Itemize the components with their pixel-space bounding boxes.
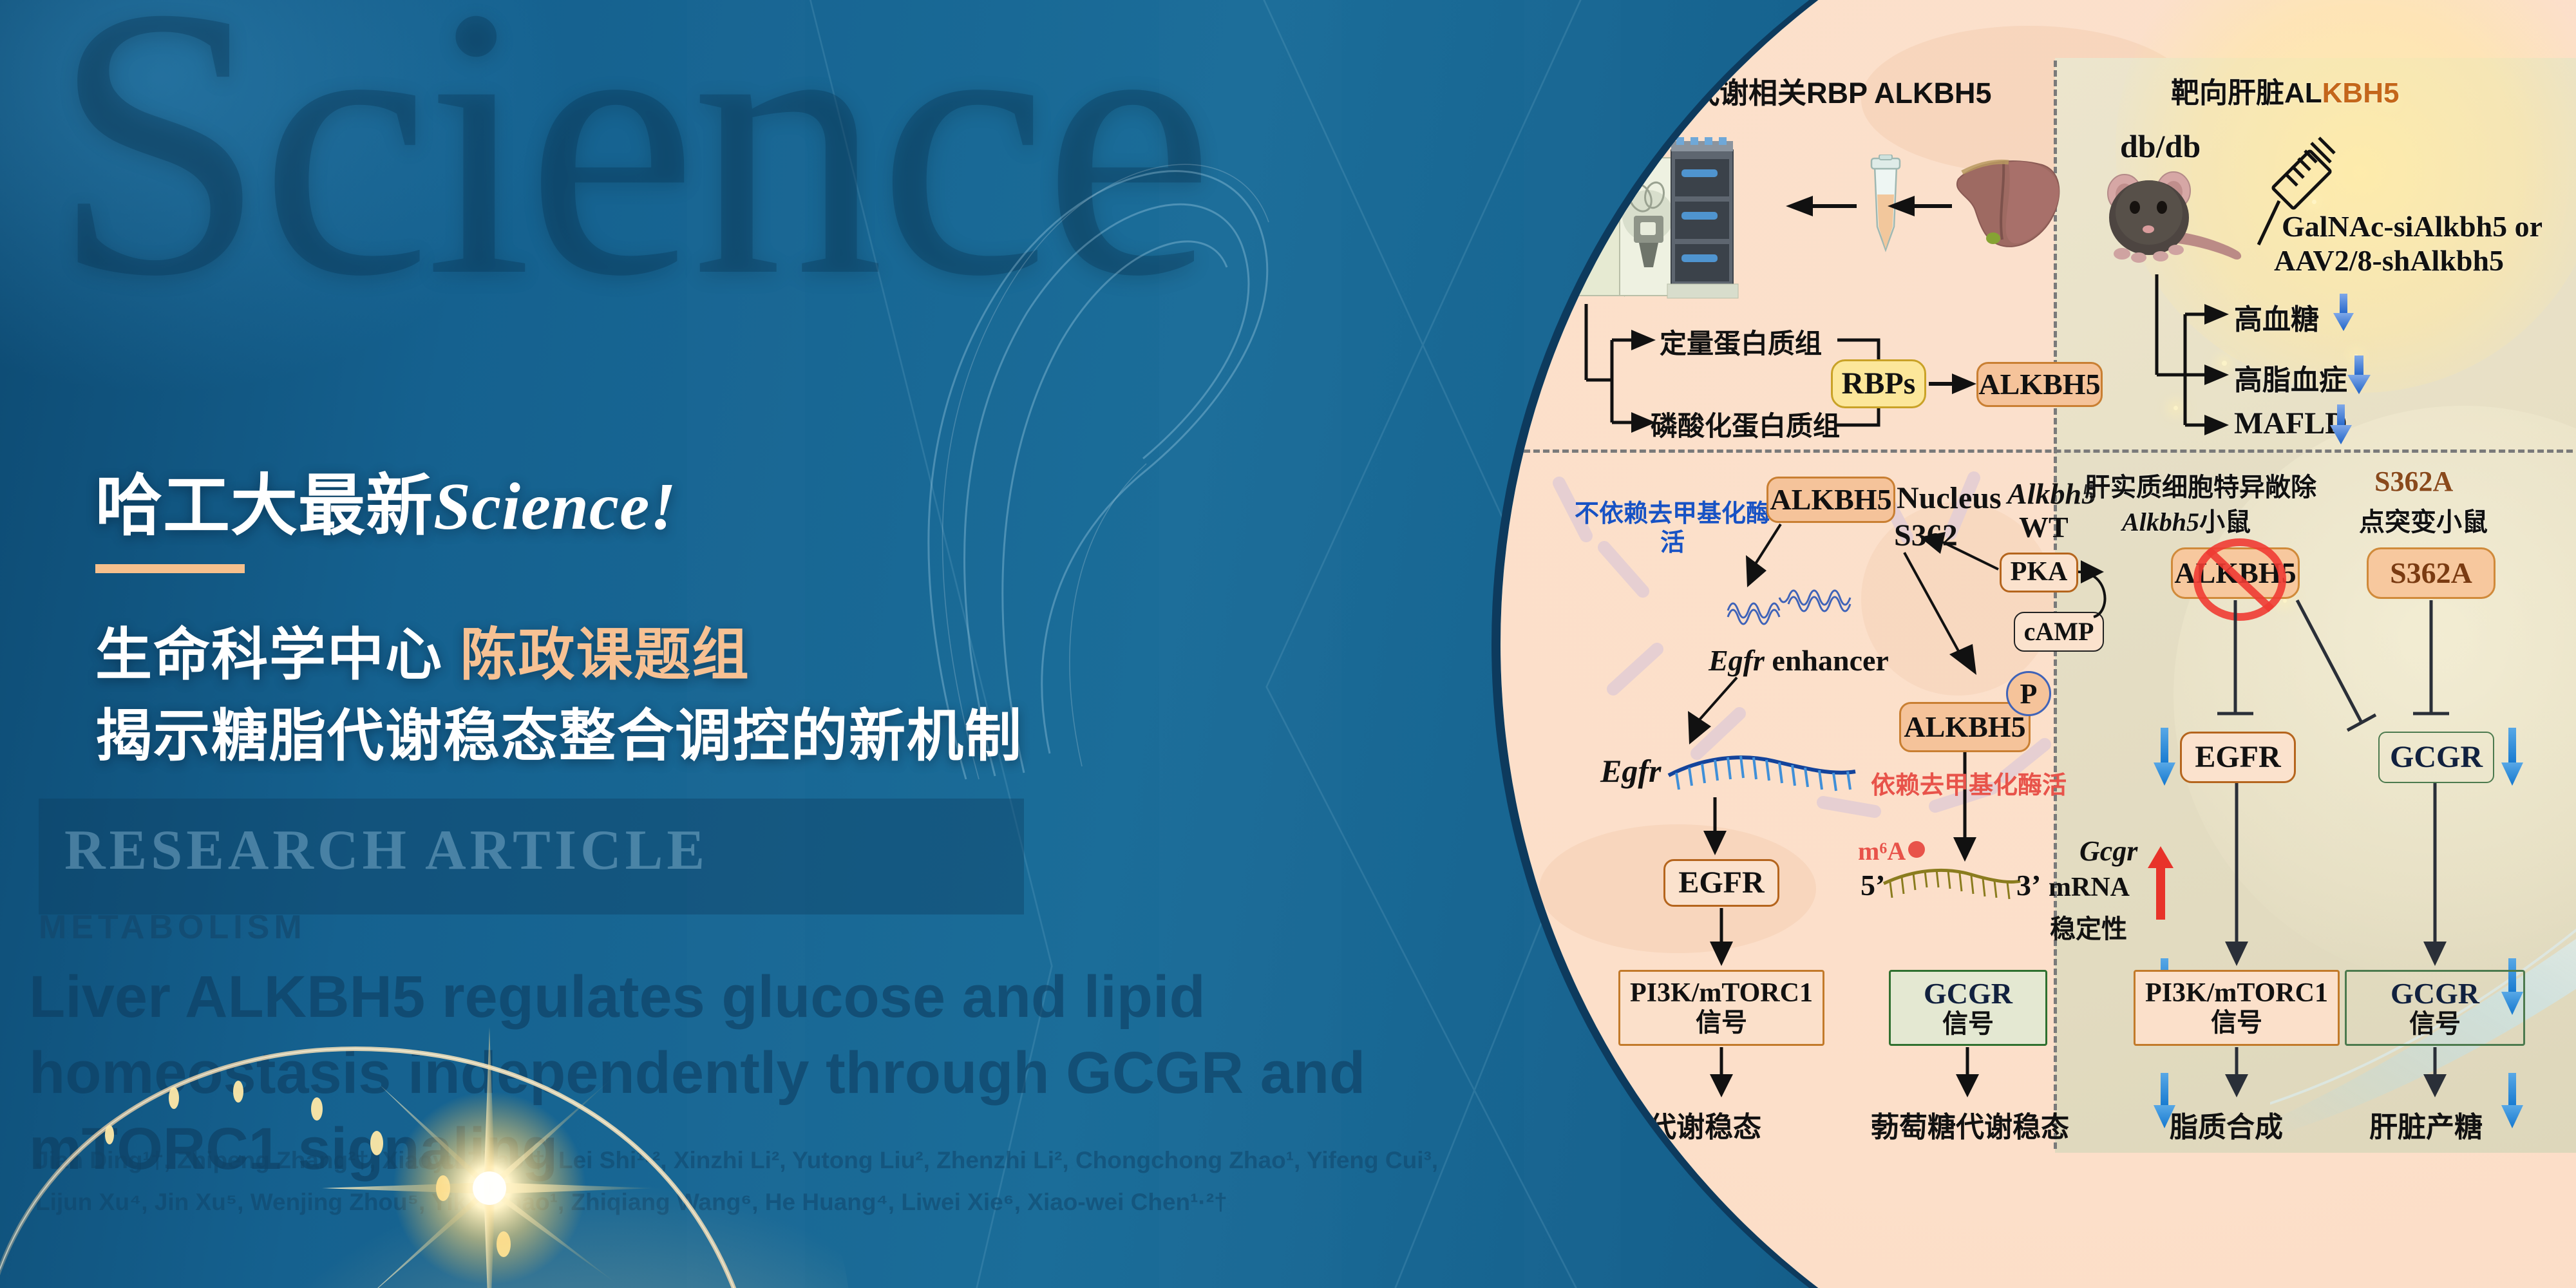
diagram-content: 筛选代谢相关RBP ALKBH5 xyxy=(1510,58,2576,1153)
headline-tertiary: 揭示糖脂代谢稳态整合调控的新机制 xyxy=(95,690,1023,772)
headline-primary-en: Science! xyxy=(433,469,677,544)
diagram-panel: 筛选代谢相关RBP ALKBH5 xyxy=(1501,0,2576,1288)
smoke-swirl xyxy=(889,19,1288,792)
headline-secondary-accent: 陈政课题组 xyxy=(460,623,750,687)
br-outcome-left: 脂质合成 xyxy=(2170,1104,2283,1145)
glow-arc xyxy=(0,966,863,1288)
br-outcome-right: 肝脏产糖 xyxy=(2369,1104,2483,1145)
br-signal-to-outcome-arrows xyxy=(1510,58,2576,1153)
cover-section-label: METABOLISM xyxy=(39,908,307,947)
cover-research-article-label: RESEARCH ARTICLE xyxy=(64,818,708,883)
headline-primary: 哈工大最新Science! xyxy=(95,451,677,548)
accent-divider-bar xyxy=(95,564,245,573)
headline-secondary-white: 生命科学中心 xyxy=(95,623,443,687)
headline-secondary: 生命科学中心 陈政课题组 xyxy=(95,609,750,691)
poster-canvas: Science RESEARCH ARTICLE METABOLISM Live… xyxy=(0,0,2576,1288)
headline-primary-cn: 哈工大最新 xyxy=(95,469,433,544)
